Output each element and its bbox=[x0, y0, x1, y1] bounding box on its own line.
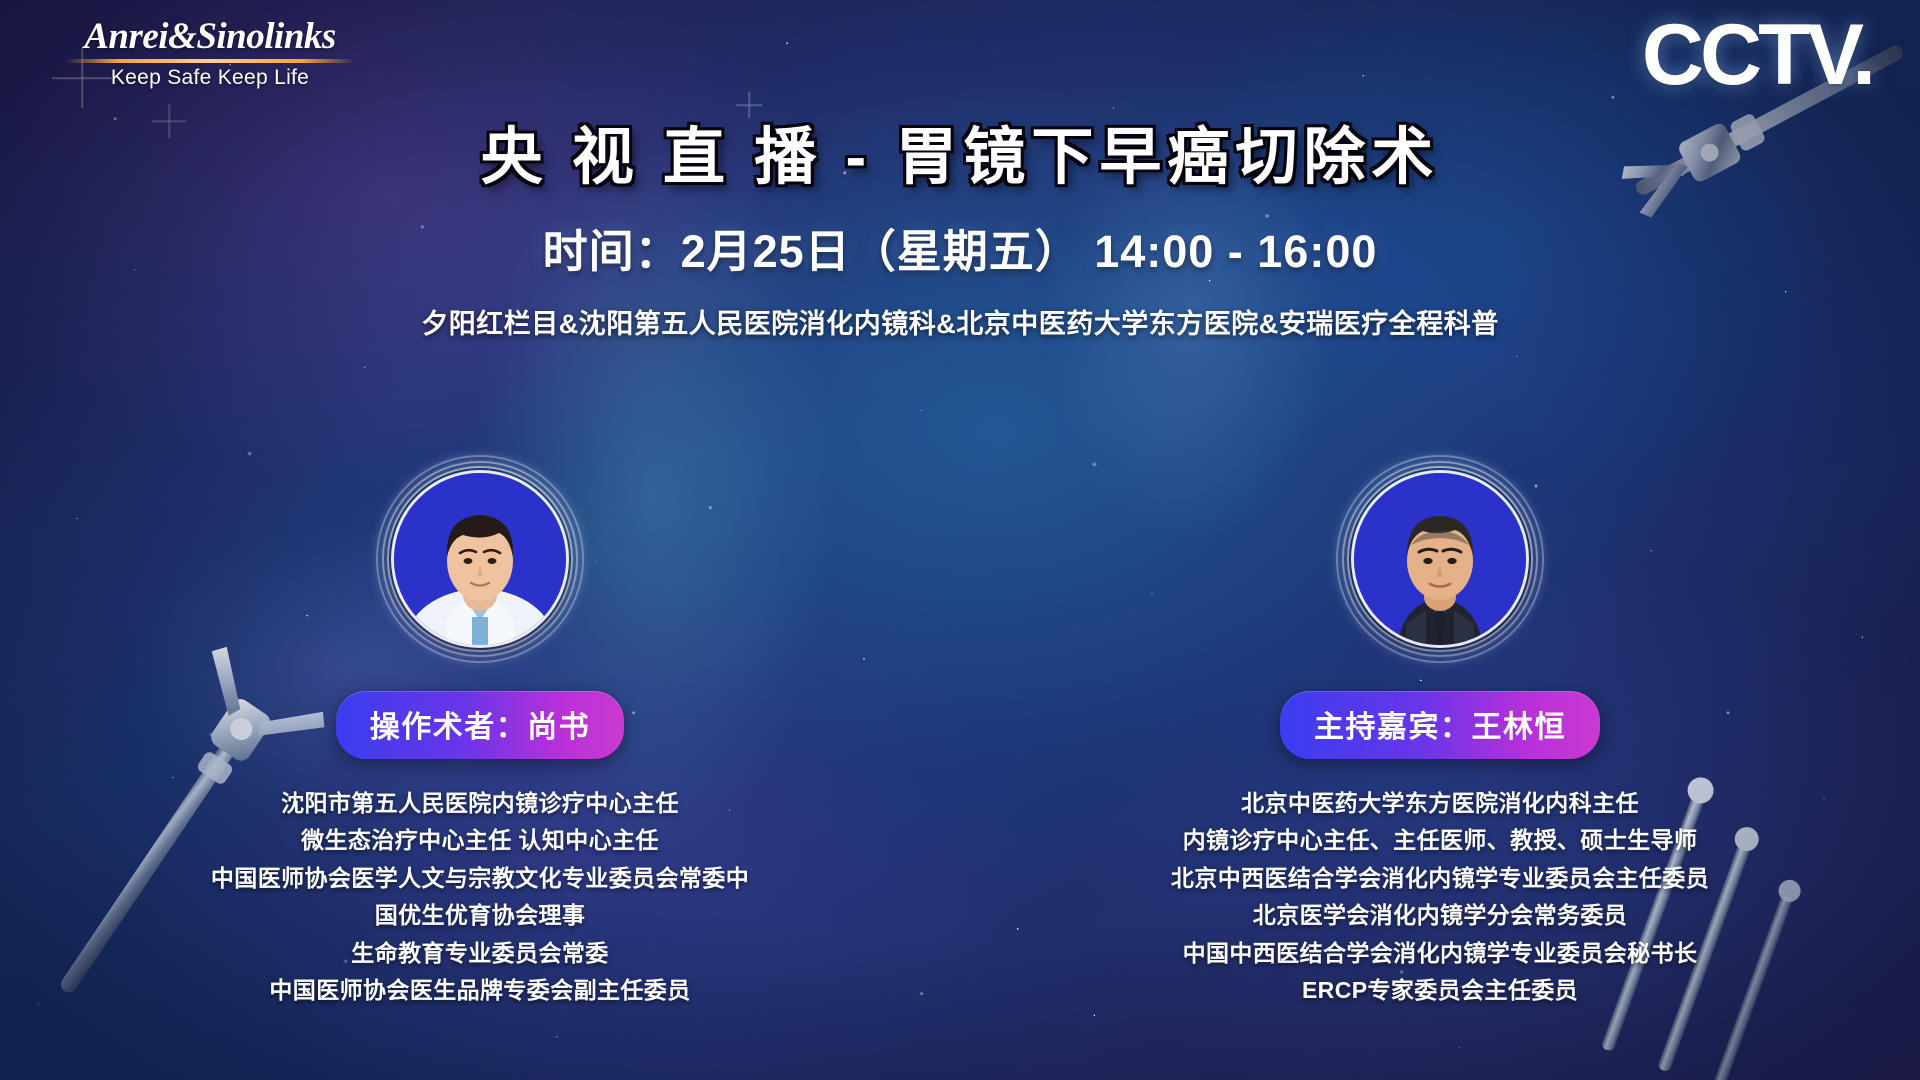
credential-line: 沈阳市第五人民医院内镜诊疗中心主任 bbox=[211, 785, 749, 822]
credential-line: 中国医师协会医学人文与宗教文化专业委员会常委中 bbox=[211, 860, 749, 897]
avatar bbox=[1336, 455, 1544, 663]
page-title: 央 视 直 播 - 胃镜下早癌切除术 bbox=[0, 122, 1920, 193]
credential-line: ERCP专家委员会主任委员 bbox=[1171, 972, 1709, 1009]
credential-line: 中国中西医结合学会消化内镜学专业委员会秘书长 bbox=[1171, 935, 1709, 972]
credential-line: 微生态治疗中心主任 认知中心主任 bbox=[211, 822, 749, 859]
credential-line: 北京中医药大学东方医院消化内科主任 bbox=[1171, 785, 1709, 822]
credential-line: 中国医师协会医生品牌专委会副主任委员 bbox=[211, 972, 749, 1009]
cctv-logo: CCTV. bbox=[1642, 12, 1872, 98]
avatar-photo bbox=[394, 473, 566, 645]
brand-wordmark: Anrei&Sinolinks bbox=[60, 18, 360, 57]
headline-block: 央 视 直 播 - 胃镜下早癌切除术 时间：2月25日（星期五） 14:00 -… bbox=[0, 122, 1920, 341]
credential-line: 北京医学会消化内镜学分会常务委员 bbox=[1171, 897, 1709, 934]
poster-canvas: Anrei&Sinolinks Keep Safe Keep Life CCTV… bbox=[0, 0, 1920, 1080]
portrait-host-icon bbox=[1354, 473, 1526, 645]
brand-logo: Anrei&Sinolinks Keep Safe Keep Life bbox=[60, 18, 360, 90]
presenters-section: 操作术者：尚书 沈阳市第五人民医院内镜诊疗中心主任 微生态治疗中心主任 认知中心… bbox=[0, 455, 1920, 1010]
credential-line: 北京中西医结合学会消化内镜学专业委员会主任委员 bbox=[1171, 860, 1709, 897]
credential-line: 国优生优育协会理事 bbox=[211, 897, 749, 934]
brand-wordmark-text: Anrei&Sinolinks bbox=[84, 16, 336, 57]
presenter-card: 操作术者：尚书 沈阳市第五人民医院内镜诊疗中心主任 微生态治疗中心主任 认知中心… bbox=[0, 455, 960, 1010]
avatar bbox=[376, 455, 584, 663]
presenter-name-badge: 操作术者：尚书 bbox=[336, 691, 625, 759]
sparkle-icon bbox=[736, 92, 762, 118]
organizers-line: 夕阳红栏目&沈阳第五人民医院消化内镜科&北京中医药大学东方医院&安瑞医疗全程科普 bbox=[0, 302, 1920, 341]
presenter-credentials: 北京中医药大学东方医院消化内科主任 内镜诊疗中心主任、主任医师、教授、硕士生导师… bbox=[1171, 785, 1709, 1010]
brand-divider bbox=[65, 59, 355, 63]
portrait-operator-icon bbox=[394, 473, 566, 645]
brand-tagline: Keep Safe Keep Life bbox=[60, 66, 360, 90]
credential-line: 内镜诊疗中心主任、主任医师、教授、硕士生导师 bbox=[1171, 822, 1709, 859]
presenter-name-badge: 主持嘉宾：王林恒 bbox=[1280, 691, 1600, 759]
avatar-photo bbox=[1354, 473, 1526, 645]
event-time: 时间：2月25日（星期五） 14:00 - 16:00 bbox=[0, 215, 1920, 280]
credential-line: 生命教育专业委员会常委 bbox=[211, 935, 749, 972]
presenter-credentials: 沈阳市第五人民医院内镜诊疗中心主任 微生态治疗中心主任 认知中心主任 中国医师协… bbox=[211, 785, 749, 1010]
presenter-card: 主持嘉宾：王林恒 北京中医药大学东方医院消化内科主任 内镜诊疗中心主任、主任医师… bbox=[960, 455, 1920, 1010]
